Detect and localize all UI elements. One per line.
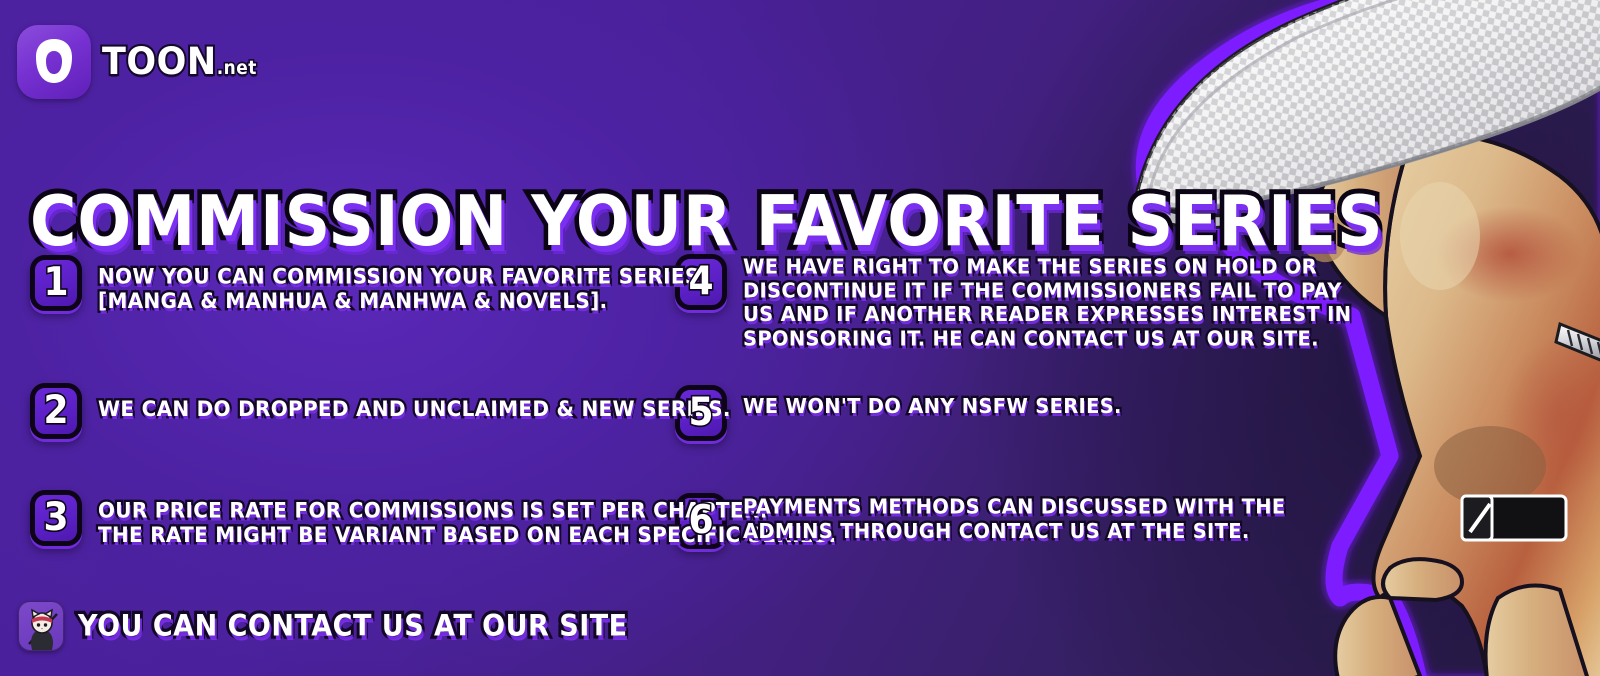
- item-number-badge: 3: [30, 490, 82, 546]
- item-line: US AND IF ANOTHER READER EXPRESSES INTER…: [743, 303, 1351, 327]
- item-line: WE WON'T DO ANY NSFW SERIES.: [743, 395, 1122, 419]
- item-line: OUR PRICE RATE FOR COMMISSIONS IS SET PE…: [98, 498, 836, 523]
- brand-name-text: TOON: [102, 40, 217, 83]
- item-line: ADMINS THROUGH CONTACT US AT THE SITE.: [743, 519, 1285, 543]
- katana-sword: [1556, 324, 1600, 364]
- item-text: OUR PRICE RATE FOR COMMISSIONS IS SET PE…: [98, 490, 836, 548]
- commission-banner: TOON.net COMMISSION YOUR FAVORITE SERIES…: [0, 0, 1600, 676]
- list-item-6: 6 PAYMENTS METHODS CAN DISCUSSED WITH TH…: [675, 467, 1245, 549]
- item-number: 4: [688, 263, 713, 302]
- list-item-5: 5 WE WON'T DO ANY NSFW SERIES.: [675, 362, 1245, 467]
- item-number: 3: [43, 499, 68, 538]
- item-text: WE WON'T DO ANY NSFW SERIES.: [743, 381, 1122, 419]
- samurai-cat-avatar-icon: [18, 601, 64, 651]
- item-line: WE HAVE RIGHT TO MAKE THE SERIES ON HOLD…: [743, 255, 1351, 279]
- item-number: 2: [43, 392, 68, 431]
- list-item-2: 2 WE CAN DO DROPPED AND UNCLAIMED & NEW …: [30, 362, 675, 467]
- item-text: NOW YOU CAN COMMISSION YOUR FAVORITE SER…: [98, 255, 700, 314]
- item-number: 6: [688, 502, 713, 541]
- item-line: DISCONTINUE IT IF THE COMMISSIONERS FAIL…: [743, 279, 1351, 303]
- site-logo[interactable]: TOON.net: [17, 25, 257, 99]
- item-number-badge: 1: [30, 255, 82, 311]
- item-line: THE RATE MIGHT BE VARIANT BASED ON EACH …: [98, 523, 836, 548]
- list-item-3: 3 OUR PRICE RATE FOR COMMISSIONS IS SET …: [30, 467, 675, 549]
- black-belt-sash: [1462, 496, 1566, 540]
- brand-suffix: .net: [217, 57, 257, 79]
- item-text: PAYMENTS METHODS CAN DISCUSSED WITH THE …: [743, 489, 1285, 543]
- item-number-badge: 2: [30, 383, 82, 439]
- contact-text: YOU CAN CONTACT US AT OUR SITE: [78, 611, 628, 640]
- item-text: WE HAVE RIGHT TO MAKE THE SERIES ON HOLD…: [743, 250, 1351, 351]
- item-line: WE CAN DO DROPPED AND UNCLAIMED & NEW SE…: [98, 397, 731, 422]
- commission-rules-list: 1 NOW YOU CAN COMMISSION YOUR FAVORITE S…: [30, 250, 1245, 549]
- item-number: 1: [43, 264, 68, 303]
- item-line: PAYMENTS METHODS CAN DISCUSSED WITH THE: [743, 495, 1285, 519]
- contact-footer[interactable]: YOU CAN CONTACT US AT OUR SITE: [18, 601, 628, 651]
- item-line: SPONSORING IT. HE CAN CONTACT US AT OUR …: [743, 327, 1351, 351]
- item-line: NOW YOU CAN COMMISSION YOUR FAVORITE SER…: [98, 265, 700, 290]
- list-item-4: 4 WE HAVE RIGHT TO MAKE THE SERIES ON HO…: [675, 250, 1245, 362]
- list-item-1: 1 NOW YOU CAN COMMISSION YOUR FAVORITE S…: [30, 250, 675, 362]
- brand-name: TOON.net: [102, 43, 257, 81]
- item-text: WE CAN DO DROPPED AND UNCLAIMED & NEW SE…: [98, 383, 731, 421]
- item-number: 5: [688, 394, 713, 433]
- toon-crescent-logo-icon: [17, 25, 91, 99]
- page-title: COMMISSION YOUR FAVORITE SERIES: [30, 187, 1384, 256]
- item-line: [MANGA & MANHUA & MANHWA & NOVELS].: [98, 289, 700, 314]
